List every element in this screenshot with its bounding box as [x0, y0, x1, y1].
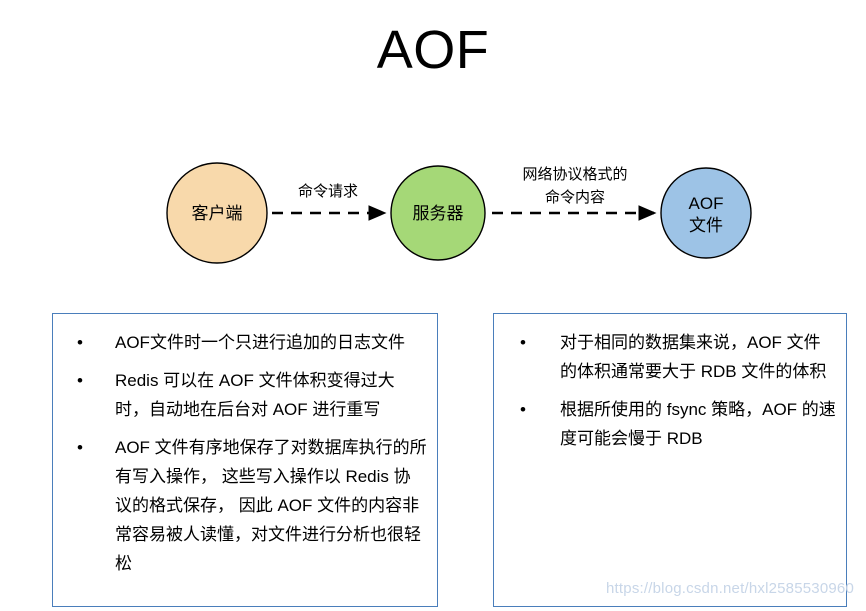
bullet-icon: • [77, 366, 83, 395]
disadvantages-bullet-list: • 对于相同的数据集来说，AOF 文件的体积通常要大于 RDB 文件的体积 • … [504, 328, 836, 453]
list-item: • Redis 可以在 AOF 文件体积变得过大时，自动地在后台对 AOF 进行… [63, 366, 427, 424]
watermark: https://blog.csdn.net/hxl2585530960 [606, 580, 854, 598]
node-aof-file-shape[interactable] [661, 168, 751, 258]
list-item: • 根据所使用的 fsync 策略，AOF 的速度可能会慢于 RDB [504, 395, 836, 453]
advantages-bullet-list: • AOF文件时一个只进行追加的日志文件 • Redis 可以在 AOF 文件体… [63, 328, 427, 578]
node-server-label: 服务器 [413, 204, 464, 223]
list-item: • AOF文件时一个只进行追加的日志文件 [63, 328, 427, 357]
bullet-icon: • [520, 328, 526, 357]
bullet-icon: • [520, 395, 526, 424]
edge-label-command-request: 命令请求 [298, 182, 358, 200]
edge-client-to-server: 命令请求 [272, 182, 384, 213]
list-item-text: 根据所使用的 fsync 策略，AOF 的速度可能会慢于 RDB [560, 400, 836, 448]
list-item-text: Redis 可以在 AOF 文件体积变得过大时，自动地在后台对 AOF 进行重写 [115, 371, 395, 419]
list-item: • AOF 文件有序地保存了对数据库执行的所有写入操作， 这些写入操作以 Red… [63, 433, 427, 578]
node-aof-file-label-line2: 文件 [689, 216, 723, 235]
bullet-icon: • [77, 328, 83, 357]
advantages-box: • AOF文件时一个只进行追加的日志文件 • Redis 可以在 AOF 文件体… [52, 313, 438, 607]
list-item-text: AOF文件时一个只进行追加的日志文件 [115, 333, 405, 352]
list-item-text: 对于相同的数据集来说，AOF 文件的体积通常要大于 RDB 文件的体积 [560, 333, 826, 381]
node-aof-file-label-line1: AOF [689, 194, 724, 213]
flow-diagram: 命令请求 网络协议格式的 命令内容 客户端 服务器 AOF 文件 [0, 130, 866, 280]
edge-server-to-aoffile: 网络协议格式的 命令内容 [492, 166, 654, 213]
node-client[interactable]: 客户端 [167, 163, 267, 263]
edge-label-protocol-format-line2: 命令内容 [545, 188, 605, 206]
list-item-text: AOF 文件有序地保存了对数据库执行的所有写入操作， 这些写入操作以 Redis… [115, 438, 427, 573]
node-aof-file[interactable]: AOF 文件 [661, 168, 751, 258]
disadvantages-box: • 对于相同的数据集来说，AOF 文件的体积通常要大于 RDB 文件的体积 • … [493, 313, 847, 607]
bullet-icon: • [77, 433, 83, 462]
node-client-label: 客户端 [192, 204, 243, 223]
page-title: AOF [0, 18, 866, 82]
list-item: • 对于相同的数据集来说，AOF 文件的体积通常要大于 RDB 文件的体积 [504, 328, 836, 386]
edge-label-protocol-format-line1: 网络协议格式的 [522, 166, 627, 183]
node-server[interactable]: 服务器 [391, 166, 485, 260]
